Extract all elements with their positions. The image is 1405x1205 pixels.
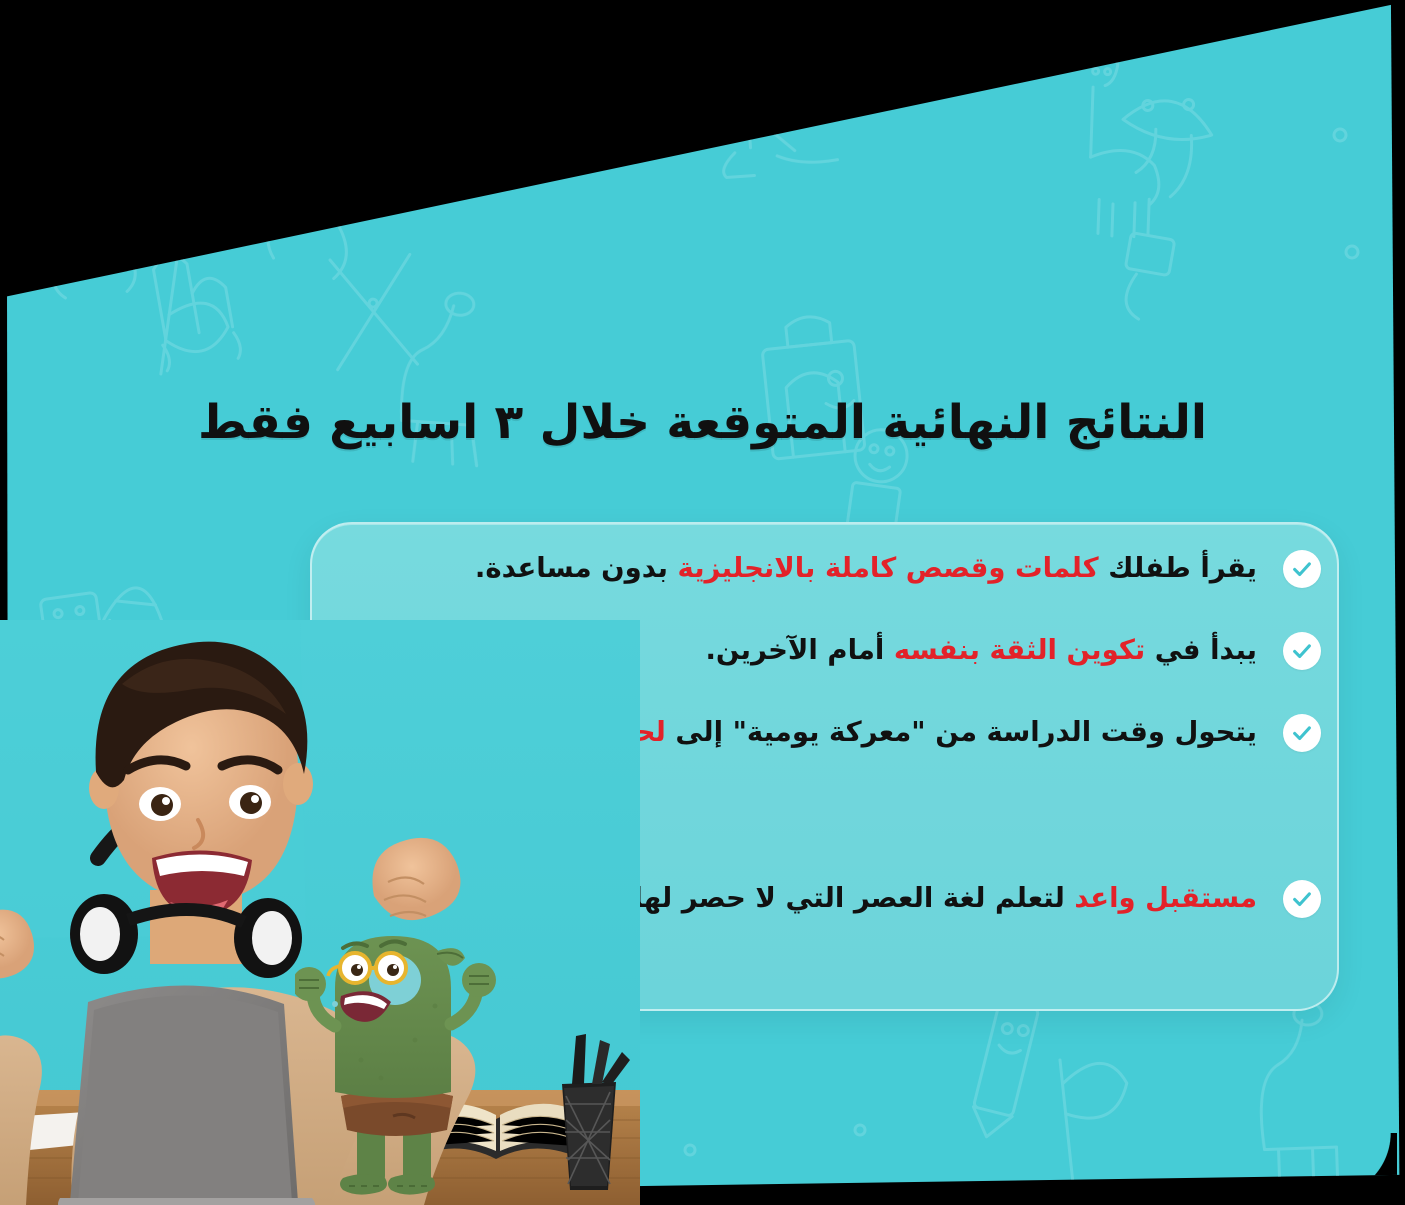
list-item[interactable]: يقرأ طفلك كلمات وقصص كاملة بالانجليزية ب… <box>340 546 1321 591</box>
benefit-text-highlight: مستقبل واعد <box>1074 882 1257 914</box>
green-g-mascot-icon <box>295 920 500 1205</box>
benefit-text-plain: يقرأ طفلك <box>1099 552 1257 584</box>
page-title: النتائج النهائية المتوقعة خلال ٣ اسابيع … <box>0 395 1405 450</box>
check-circle-icon <box>1283 714 1321 752</box>
benefit-text: يقرأ طفلك كلمات وقصص كاملة بالانجليزية ب… <box>340 546 1257 591</box>
benefit-text-highlight: تكوين الثقة بنفسه <box>894 634 1145 666</box>
benefit-text-plain: لتعلم لغة العصر التي لا حصر لها <box>633 882 1074 914</box>
panel-corner-bottom-right <box>1327 1133 1397 1203</box>
check-circle-icon <box>1283 880 1321 918</box>
check-circle-icon <box>1283 550 1321 588</box>
check-circle-icon <box>1283 632 1321 670</box>
benefit-text-plain: يتحول وقت الدراسة من "معركة يومية" إلى <box>666 716 1257 748</box>
slide-canvas: النتائج النهائية المتوقعة خلال ٣ اسابيع … <box>0 0 1405 1205</box>
benefit-text-highlight: كلمات وقصص كاملة بالانجليزية <box>678 552 1099 584</box>
benefit-text-plain: يبدأ في <box>1145 634 1257 666</box>
benefit-text-plain: بدون مساعدة. <box>475 552 678 584</box>
benefit-text-plain: أمام الآخرين. <box>705 634 893 666</box>
